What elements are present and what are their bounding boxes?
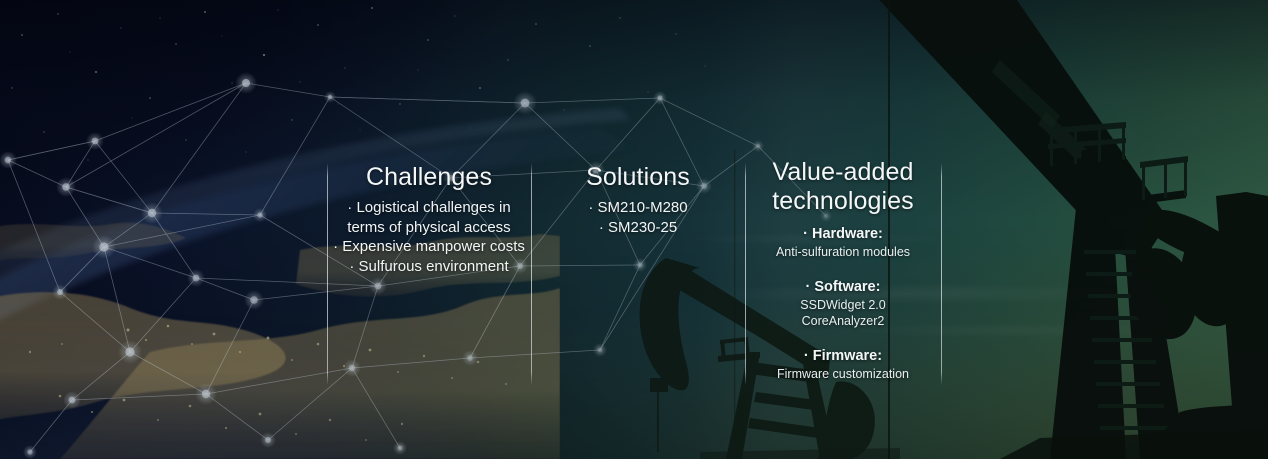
software-item-2: CoreAnalyzer2 bbox=[745, 313, 941, 330]
software-heading: · Software: bbox=[745, 278, 941, 297]
challenges-bullets: · Logistical challenges in terms of phys… bbox=[327, 198, 531, 276]
column-challenges: Challenges · Logistical challenges in te… bbox=[327, 163, 531, 276]
hardware-item-1: Anti-sulfuration modules bbox=[745, 244, 941, 261]
firmware-heading: · Firmware: bbox=[745, 347, 941, 366]
column-divider-4 bbox=[941, 163, 942, 385]
hardware-heading: · Hardware: bbox=[745, 225, 941, 244]
challenges-bullet-3: · Sulfurous environment bbox=[327, 257, 531, 277]
column-solutions: Solutions · SM210-M280 · SM230-25 bbox=[531, 163, 745, 237]
solutions-bullet-2: · SM230-25 bbox=[531, 218, 745, 238]
challenges-title: Challenges bbox=[327, 163, 531, 192]
value-added-title: Value-added technologies bbox=[745, 158, 941, 216]
solutions-bullets: · SM210-M280 · SM230-25 bbox=[531, 198, 745, 237]
banner-content: Challenges · Logistical challenges in te… bbox=[0, 0, 1268, 459]
value-added-title-line1: Value-added bbox=[772, 158, 913, 186]
value-added-group-hardware: · Hardware: Anti-sulfuration modules bbox=[745, 225, 941, 261]
value-added-title-line2: technologies bbox=[772, 187, 914, 215]
challenges-bullet-1: · Logistical challenges in terms of phys… bbox=[327, 198, 531, 237]
column-value-added: Value-added technologies · Hardware: Ant… bbox=[745, 158, 941, 382]
solutions-title: Solutions bbox=[531, 163, 745, 192]
software-item-1: SSDWidget 2.0 bbox=[745, 297, 941, 314]
hero-banner: Challenges · Logistical challenges in te… bbox=[0, 0, 1268, 459]
value-added-group-software: · Software: SSDWidget 2.0 CoreAnalyzer2 bbox=[745, 278, 941, 330]
challenges-bullet-2: · Expensive manpower costs bbox=[327, 237, 531, 257]
value-added-group-firmware: · Firmware: Firmware customization bbox=[745, 347, 941, 383]
firmware-item-1: Firmware customization bbox=[745, 366, 941, 383]
solutions-bullet-1: · SM210-M280 bbox=[531, 198, 745, 218]
